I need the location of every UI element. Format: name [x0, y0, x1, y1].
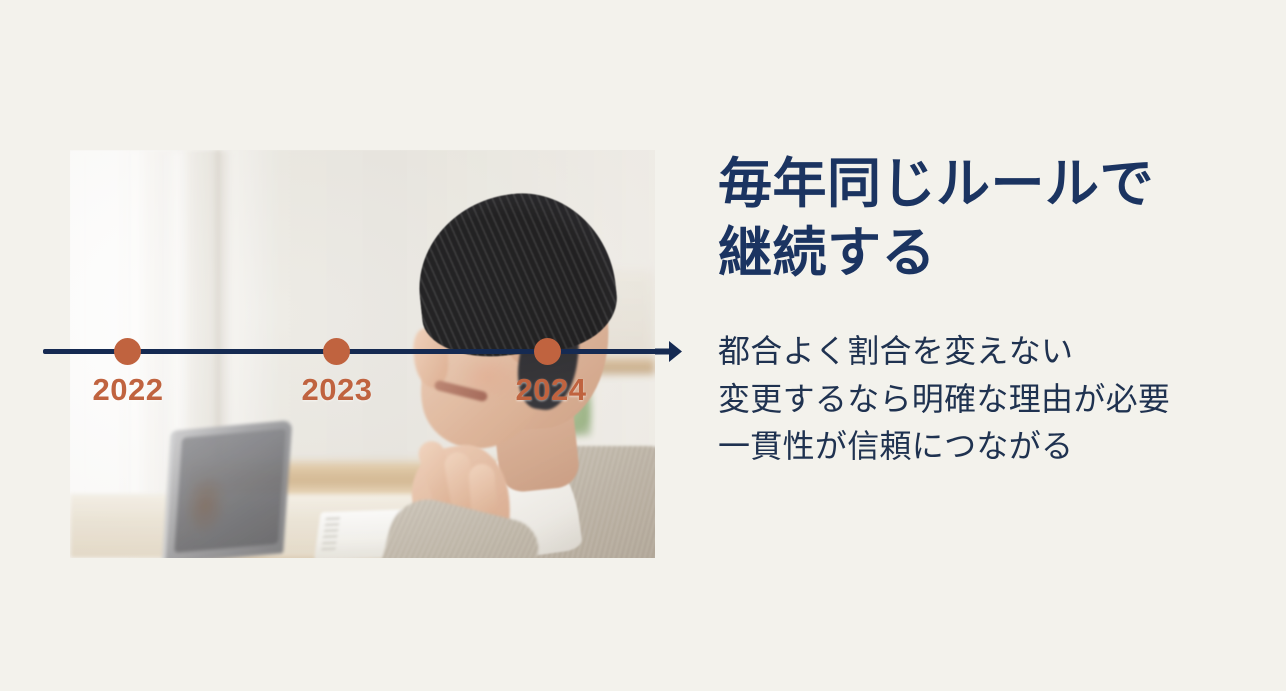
photo-scene: [70, 150, 655, 558]
person-figure: [370, 178, 655, 558]
hair: [410, 184, 622, 364]
photo-person-at-laptop: [70, 150, 655, 558]
body-line-1: 都合よく割合を変えない: [718, 328, 1258, 375]
arrow-right-icon: [655, 337, 683, 366]
headline-line-2: 継続する: [718, 223, 936, 283]
body-line-2: 変更するなら明確な理由が必要: [718, 376, 1258, 423]
slide-canvas: 2022 2023 2024 毎年同じルールで継続する 都合よく割合を変えない …: [0, 0, 1286, 691]
laptop-screen-reflection: [181, 472, 229, 538]
body-line-3: 一貫性が信頼につながる: [718, 423, 1258, 470]
page-title: 毎年同じルールで継続する: [718, 150, 1218, 288]
hair-strand-texture: [410, 184, 622, 364]
text-column: 毎年同じルールで継続する 都合よく割合を変えない 変更するなら明確な理由が必要 …: [718, 150, 1258, 470]
headline-line-1: 毎年同じルールで: [718, 154, 1154, 214]
notebook-spiral: [321, 518, 340, 554]
laptop: [162, 420, 293, 558]
body-text-block: 都合よく割合を変えない 変更するなら明確な理由が必要 一貫性が信頼につながる: [718, 328, 1258, 470]
